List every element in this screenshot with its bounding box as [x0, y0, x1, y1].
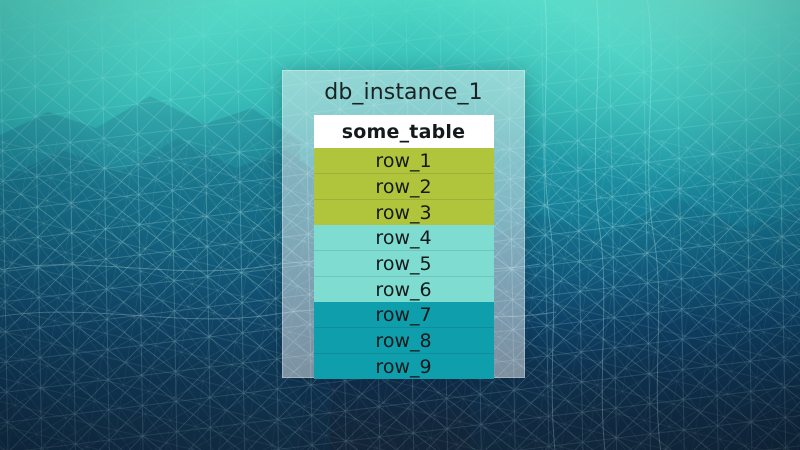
table-row-cell: row_8 — [314, 328, 494, 354]
table-row[interactable]: row_2 — [314, 174, 494, 200]
table-row[interactable]: row_9 — [314, 354, 494, 380]
table-row[interactable]: row_8 — [314, 328, 494, 354]
some-table: some_table row_1row_2row_3row_4row_5row_… — [314, 115, 494, 379]
table-header-row: some_table — [314, 115, 494, 148]
table-head: some_table — [314, 115, 494, 148]
table-row-cell: row_1 — [314, 148, 494, 174]
table-header-cell: some_table — [314, 115, 494, 148]
table-row[interactable]: row_3 — [314, 200, 494, 226]
table-row-cell: row_5 — [314, 251, 494, 277]
screenshot-stage: db_instance_1 some_table row_1row_2row_3… — [0, 0, 800, 450]
table-row[interactable]: row_5 — [314, 251, 494, 277]
table-row-cell: row_7 — [314, 302, 494, 328]
table-row-cell: row_6 — [314, 277, 494, 303]
table-row-cell: row_4 — [314, 225, 494, 251]
table-row[interactable]: row_7 — [314, 302, 494, 328]
table-row-cell: row_3 — [314, 200, 494, 226]
db-instance-title: db_instance_1 — [324, 80, 482, 106]
table-row-cell: row_9 — [314, 354, 494, 380]
table-row[interactable]: row_4 — [314, 225, 494, 251]
table-body: row_1row_2row_3row_4row_5row_6row_7row_8… — [314, 148, 494, 379]
table-row[interactable]: row_1 — [314, 148, 494, 174]
db-instance-card: db_instance_1 some_table row_1row_2row_3… — [282, 70, 525, 378]
table-row[interactable]: row_6 — [314, 277, 494, 303]
table-row-cell: row_2 — [314, 174, 494, 200]
